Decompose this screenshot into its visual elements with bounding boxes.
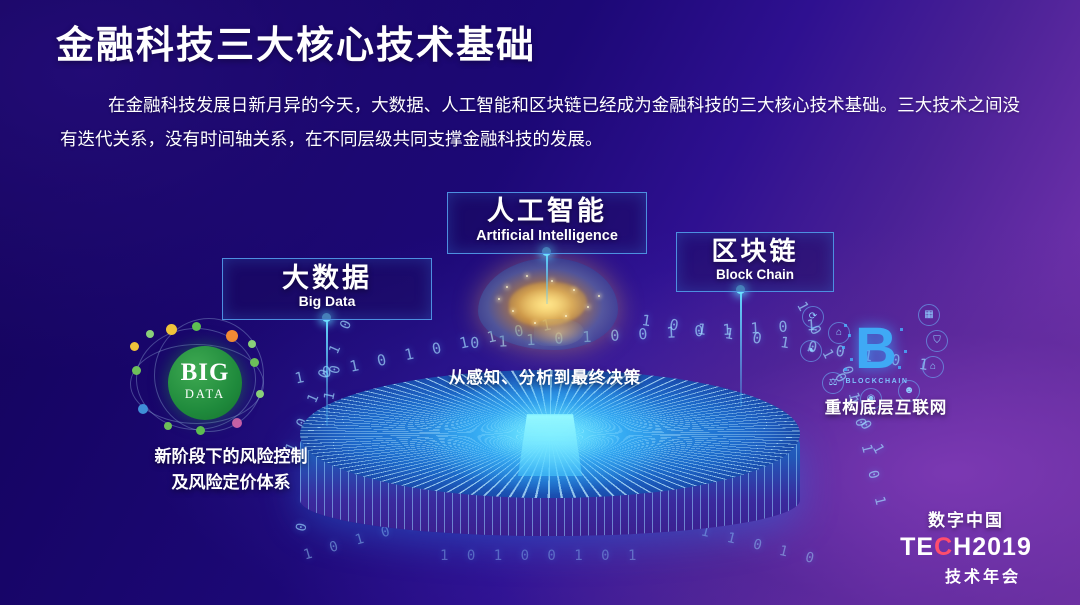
page-title: 金融科技三大核心技术基础: [56, 14, 536, 69]
factory-icon: ⌂: [922, 356, 944, 378]
refresh-icon: ⟳: [802, 306, 824, 328]
leaf-icon: ❧: [800, 340, 822, 362]
caption-big-data-line2: 及风险定价体系: [96, 470, 366, 496]
brain-spark: [512, 310, 514, 312]
disc-core-beam: [518, 414, 582, 476]
connector-blockchain: [740, 290, 742, 406]
label-cn-ai: 人工智能: [448, 193, 646, 227]
label-cn-big-data: 大数据: [223, 259, 431, 293]
bd-node: [248, 340, 256, 348]
blockchain-b-icon: B BLOCKCHAIN ⟳ ⌂ ❧ ⚖ ▦ ⛉ ⌂ ☻ ◉: [798, 304, 954, 408]
big-data-sphere: BIG DATA: [168, 346, 242, 420]
bd-node: [138, 404, 148, 414]
big-data-secondary-text: DATA: [168, 387, 242, 402]
label-en-blockchain: Block Chain: [677, 266, 833, 283]
bd-node: [256, 390, 264, 398]
label-cn-blockchain: 区块链: [677, 233, 833, 266]
big-data-network-icon: BIG DATA: [130, 322, 280, 440]
bd-node: [164, 422, 172, 430]
logo-tech-post: H2019: [953, 533, 1032, 561]
brain-spark: [551, 280, 553, 282]
logo-line-2: TECH2019: [886, 533, 1046, 562]
scales-icon: ⚖: [822, 372, 844, 394]
slide-canvas: 金融科技三大核心技术基础 在金融科技发展日新月异的今天，大数据、人工智能和区块链…: [0, 0, 1080, 605]
bd-node: [196, 426, 205, 435]
label-box-ai[interactable]: 人工智能 Artificial Intelligence: [447, 192, 647, 254]
paragraph-text: 在金融科技发展日新月异的今天，大数据、人工智能和区块链已经成为金融科技的三大核心…: [60, 95, 1020, 149]
label-en-big-data: Big Data: [223, 293, 431, 310]
big-data-primary-text: BIG: [168, 360, 242, 385]
bd-node: [166, 324, 177, 335]
caption-big-data-line1: 新阶段下的风险控制: [96, 444, 366, 470]
intro-paragraph: 在金融科技发展日新月异的今天，大数据、人工智能和区块链已经成为金融科技的三大核心…: [60, 88, 1020, 156]
bd-node: [146, 330, 154, 338]
logo-swoosh: C: [934, 533, 953, 561]
bd-node: [132, 366, 141, 375]
event-logo: 数字中国 TECH2019 技术年会: [886, 506, 1046, 587]
bd-node: [232, 418, 242, 428]
connector-big-data: [326, 318, 328, 426]
label-box-blockchain[interactable]: 区块链 Block Chain: [676, 232, 834, 292]
logo-line-1: 数字中国: [886, 506, 1046, 531]
caption-ai: 从感知、分析到最终决策: [420, 364, 670, 388]
shield-icon: ⛉: [926, 330, 948, 352]
bd-node: [250, 358, 259, 367]
chart-icon: ▦: [918, 304, 940, 326]
bd-node: [192, 322, 201, 331]
blockchain-letter-b: B: [854, 318, 898, 384]
glowing-brain-icon: [478, 258, 618, 350]
connector-ai: [546, 252, 548, 304]
label-box-big-data[interactable]: 大数据 Big Data: [222, 258, 432, 320]
logo-tech-pre: TE: [900, 533, 934, 561]
bd-node: [130, 342, 139, 351]
bd-node: [226, 330, 238, 342]
caption-blockchain: 重构底层互联网: [796, 394, 976, 418]
logo-line-3: 技术年会: [920, 563, 1046, 587]
brain-spark: [565, 315, 567, 317]
brain-spark: [506, 286, 508, 288]
label-en-ai: Artificial Intelligence: [448, 227, 646, 245]
bank-icon: ⌂: [828, 322, 850, 344]
brain-spark: [526, 275, 528, 277]
caption-big-data: 新阶段下的风险控制 及风险定价体系: [96, 444, 366, 496]
foundation-disc: [300, 370, 800, 560]
